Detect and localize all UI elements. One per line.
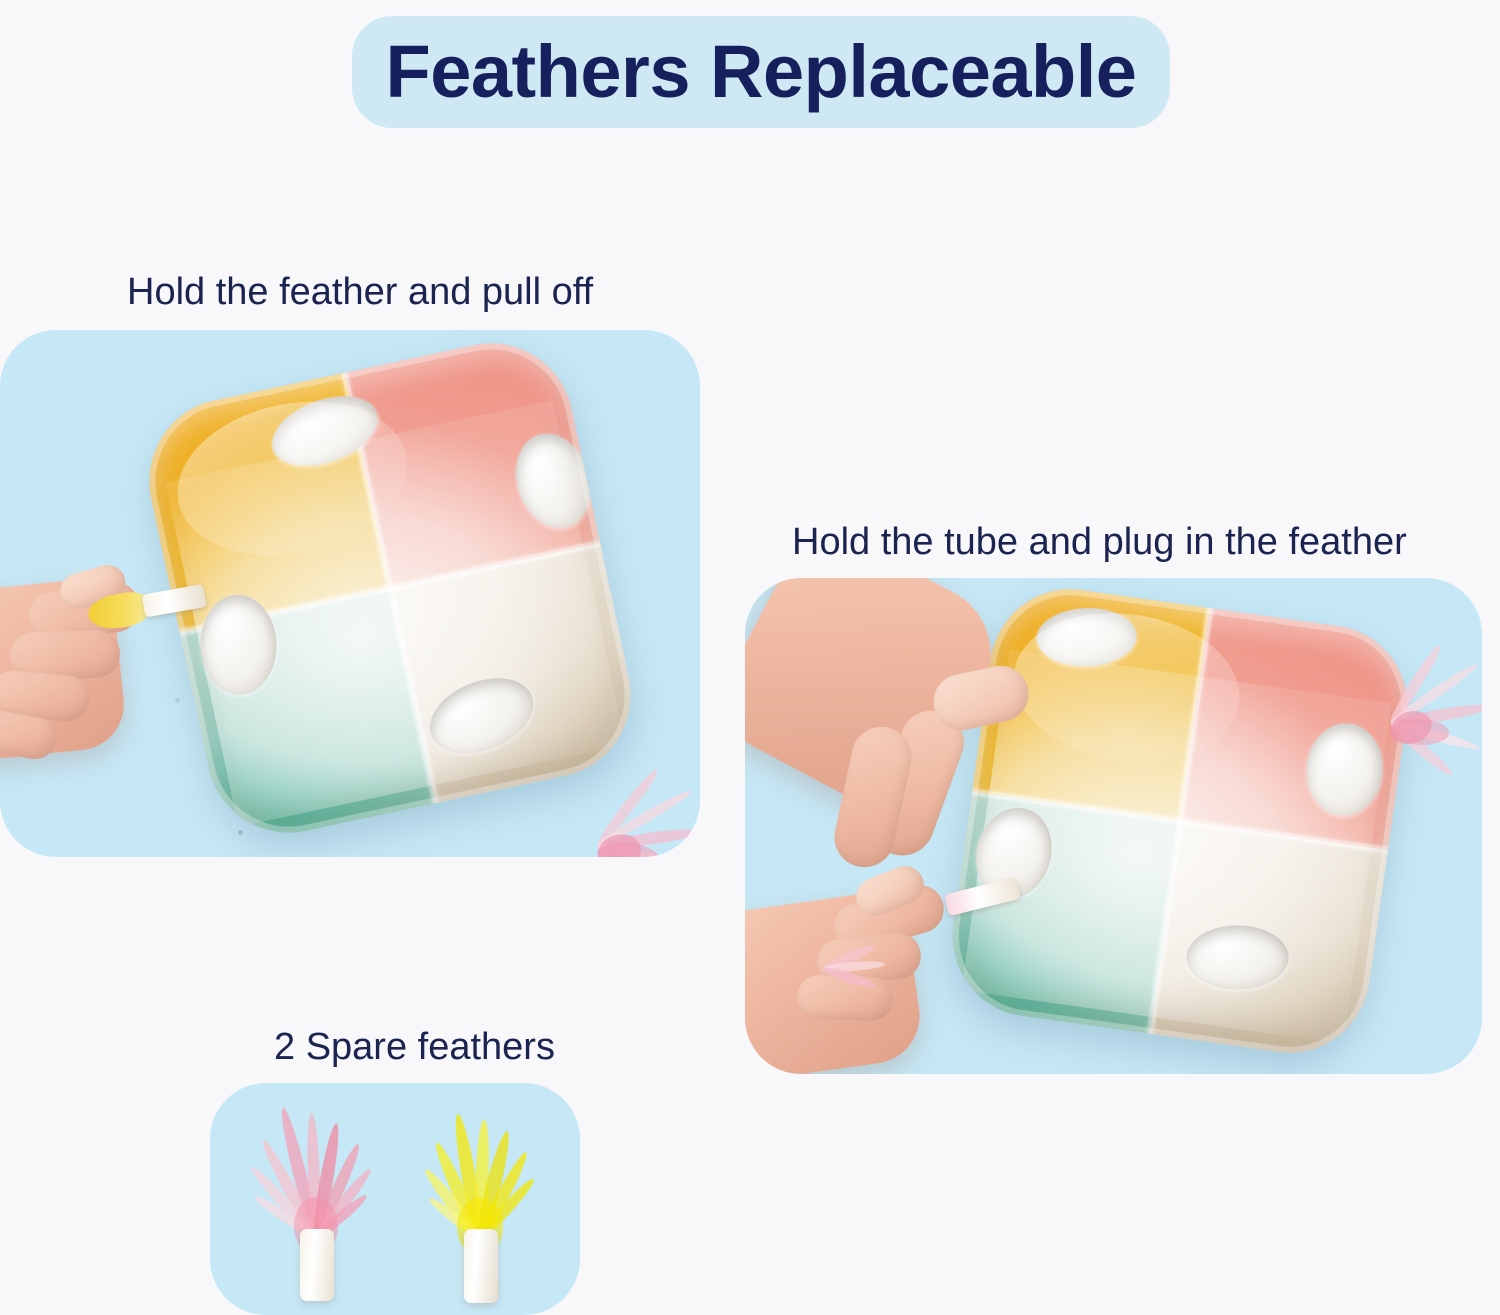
photo-panel-plug-in bbox=[745, 578, 1482, 1074]
caption-spare-feathers: 2 Spare feathers bbox=[274, 1027, 555, 1069]
scene-pull-off bbox=[0, 330, 700, 857]
scene-plug-in bbox=[745, 578, 1482, 1074]
toy-hole-bottom bbox=[1187, 925, 1289, 989]
infographic-stage: Feathers Replaceable Hold the feather an… bbox=[0, 0, 1500, 1315]
pink-spare-tube bbox=[300, 1229, 334, 1301]
title-banner: Feathers Replaceable bbox=[352, 16, 1170, 128]
spare-feather-yellow bbox=[426, 1091, 576, 1306]
caption-pull-off: Hold the feather and pull off bbox=[127, 272, 593, 314]
spare-feather-pink bbox=[262, 1091, 412, 1306]
background-speck bbox=[238, 830, 243, 835]
yellow-feather-tube bbox=[142, 584, 207, 617]
yellow-spare-tube bbox=[464, 1229, 498, 1303]
page-title: Feathers Replaceable bbox=[386, 35, 1137, 109]
photo-panel-pull-off bbox=[0, 330, 700, 857]
pink-feather-tube bbox=[944, 877, 1021, 916]
caption-plug-in: Hold the tube and plug in the feather bbox=[792, 522, 1407, 564]
hand-ring-finger bbox=[796, 974, 893, 1021]
photo-panel-spare-feathers bbox=[210, 1083, 580, 1315]
background-speck bbox=[175, 698, 180, 703]
toy-quadrant-coral bbox=[1180, 608, 1418, 850]
scene-spare-feathers bbox=[210, 1083, 580, 1315]
